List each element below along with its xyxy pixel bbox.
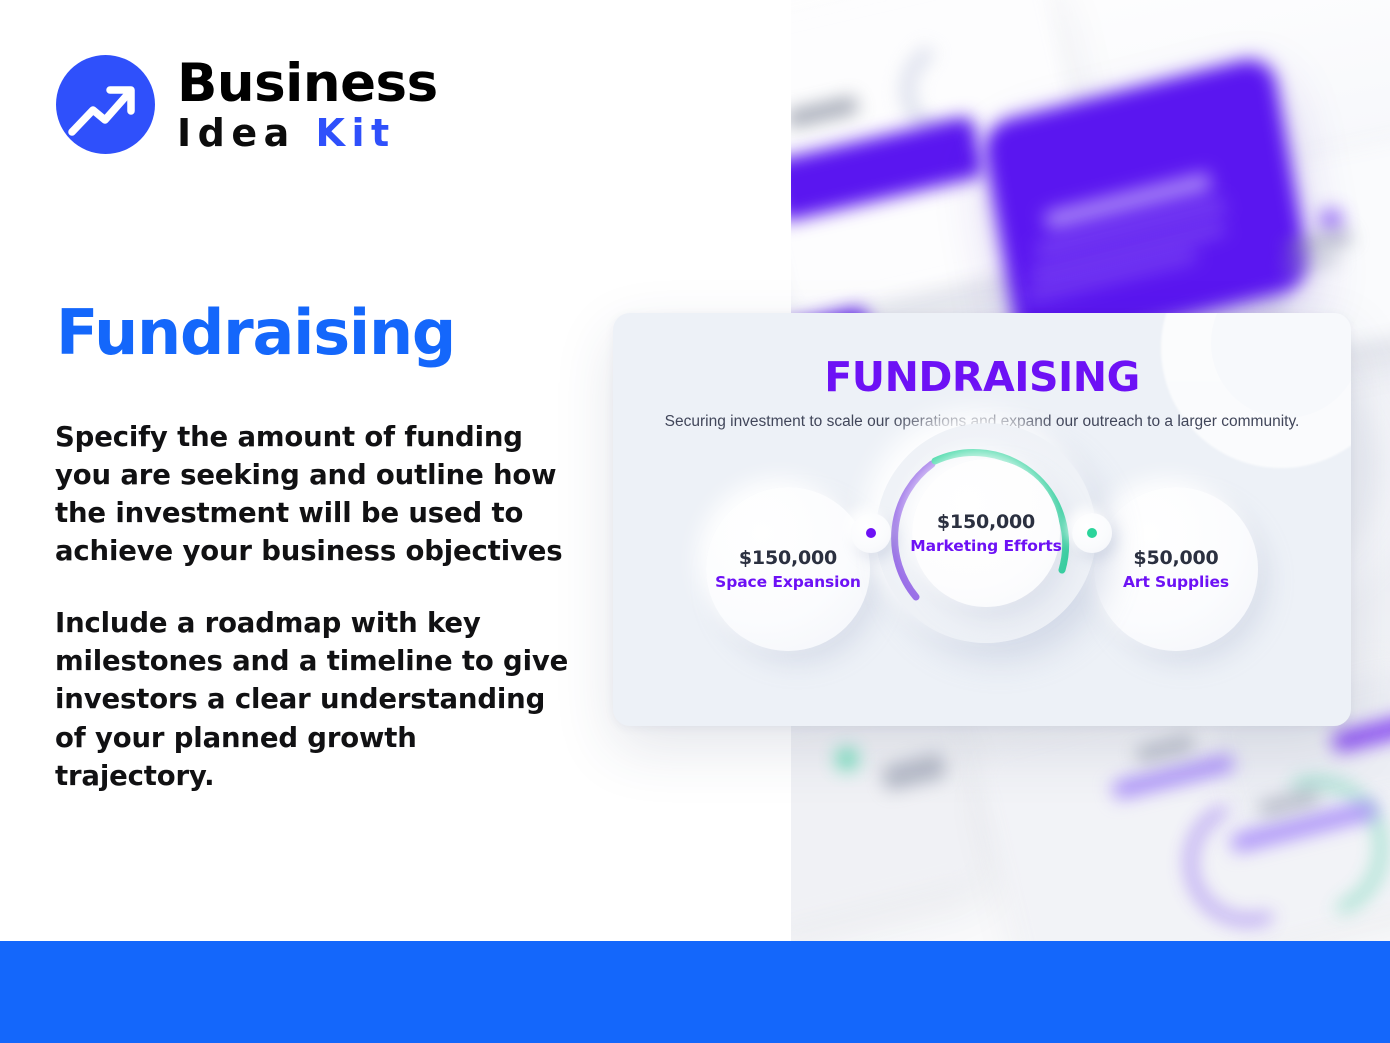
funding-item-marketing-efforts[interactable]: $150,000 Marketing Efforts <box>876 423 1096 643</box>
fundraising-preview-card[interactable]: FUNDRAISING Securing investment to scale… <box>613 313 1351 726</box>
right-connector-dot <box>1072 513 1112 553</box>
trending-up-arrow-icon <box>56 55 155 154</box>
funding-amount: $150,000 <box>937 511 1035 533</box>
left-connector-dot <box>851 513 891 553</box>
bg-dot-teal <box>836 748 858 770</box>
footer-bar <box>0 941 1390 1043</box>
funding-label: Marketing Efforts <box>910 537 1061 555</box>
body-copy: Specify the amount of funding you are se… <box>55 418 575 795</box>
brand-logo[interactable]: Business Idea Kit <box>56 55 438 154</box>
brand-name-line1: Business <box>177 57 438 110</box>
funding-item-space-expansion[interactable]: $150,000 Space Expansion <box>706 487 870 651</box>
brand-name-line2: Idea Kit <box>177 114 438 152</box>
slide-root: Business Idea Kit Fundraising Specify th… <box>0 0 1390 1043</box>
funding-amount: $50,000 <box>1133 547 1218 569</box>
funding-label: Art Supplies <box>1123 573 1229 591</box>
bg-slide-card-b <box>791 696 990 934</box>
paragraph-1: Specify the amount of funding you are se… <box>55 418 575 570</box>
funding-amount: $150,000 <box>739 547 837 569</box>
funding-label: Space Expansion <box>715 573 861 591</box>
page-title: Fundraising <box>56 296 455 369</box>
brand-name-kit: Kit <box>316 111 396 155</box>
funding-allocation-diagram: $150,000 Space Expansion $50,000 Art Sup… <box>613 463 1351 723</box>
brand-name-idea: Idea <box>177 111 296 155</box>
paragraph-2: Include a roadmap with key milestones an… <box>55 604 575 794</box>
card-title: FUNDRAISING <box>613 353 1351 401</box>
funding-item-art-supplies[interactable]: $50,000 Art Supplies <box>1094 487 1258 651</box>
dot-purple-icon <box>866 528 876 538</box>
brand-wordmark: Business Idea Kit <box>177 57 438 152</box>
bg-dot-purple-1 <box>1319 208 1343 232</box>
center-disc: $150,000 Marketing Efforts <box>912 459 1060 607</box>
dot-teal-icon <box>1087 528 1097 538</box>
